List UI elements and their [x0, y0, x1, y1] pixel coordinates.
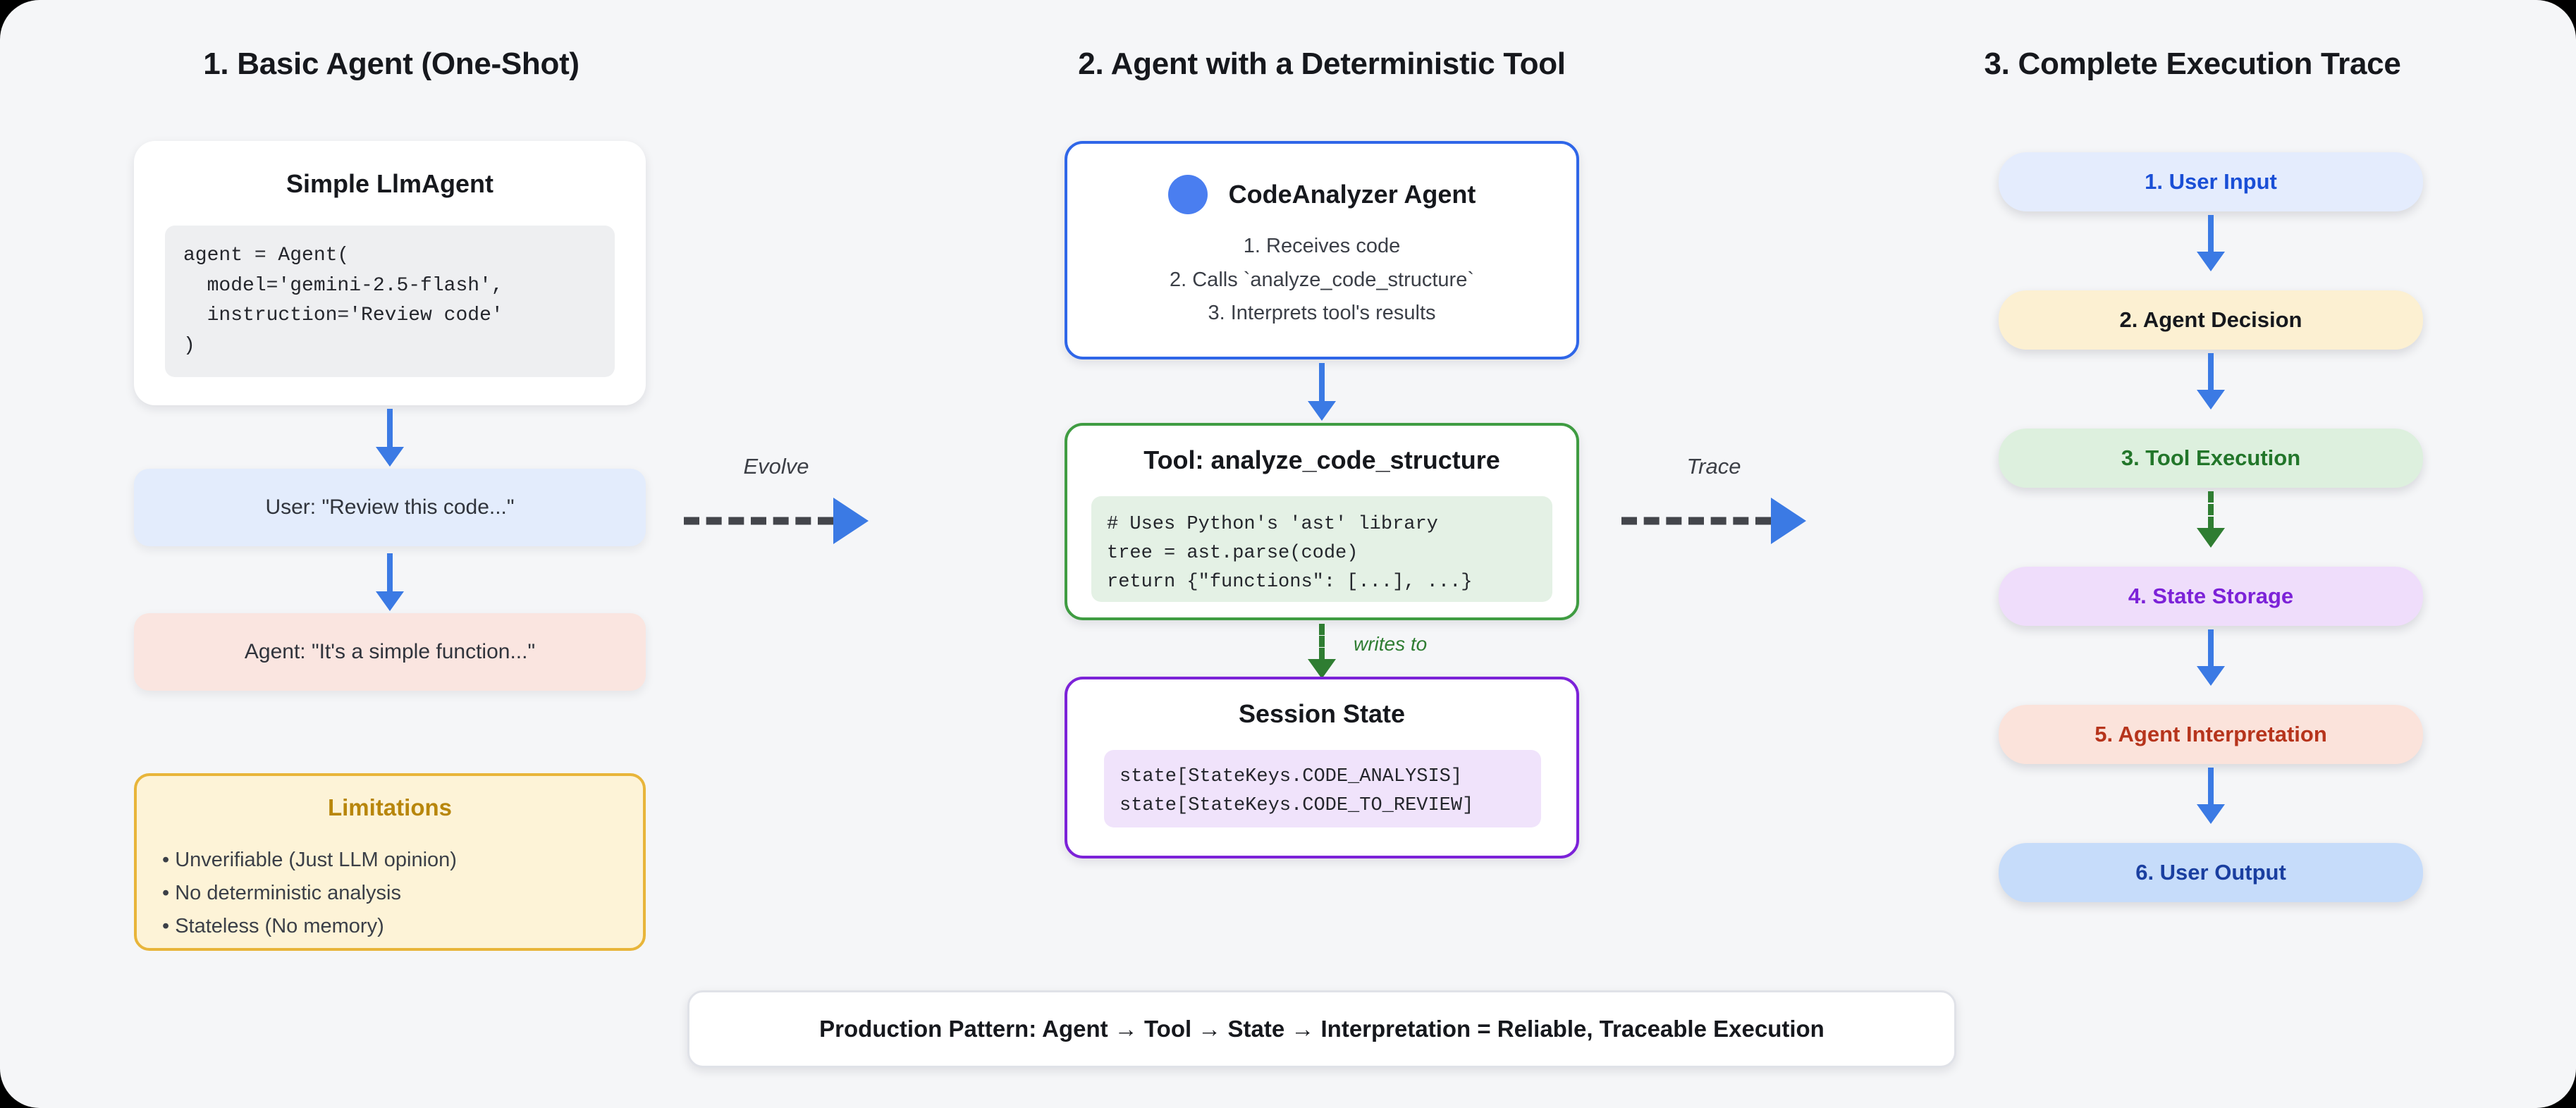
- column-title-basic-agent: 1. Basic Agent (One-Shot): [134, 47, 649, 82]
- connector-trace-label: Trace: [1621, 454, 1806, 479]
- connector-evolve: Evolve: [684, 498, 869, 544]
- trace-step-user-output: 6. User Output: [1999, 843, 2423, 902]
- agent-circle-icon: [1168, 175, 1208, 214]
- simple-llmagent-code: agent = Agent( model='gemini-2.5-flash',…: [165, 226, 615, 377]
- tool-card: Tool: analyze_code_structure # Uses Pyth…: [1065, 423, 1579, 620]
- writes-to-label: writes to: [1354, 633, 1427, 655]
- trace-step-agent-interpretation: 5. Agent Interpretation: [1999, 705, 2423, 764]
- limitation-item: • Stateless (No memory): [162, 910, 457, 943]
- limitations-list: • Unverifiable (Just LLM opinion) • No d…: [162, 844, 457, 943]
- simple-llmagent-card: Simple LlmAgent agent = Agent( model='ge…: [134, 141, 646, 405]
- agent-reply-box: Agent: "It's a simple function...": [134, 613, 646, 691]
- codeanalyzer-title: CodeAnalyzer Agent: [1229, 180, 1476, 209]
- codeanalyzer-header: CodeAnalyzer Agent: [1067, 175, 1576, 214]
- limitation-item: • Unverifiable (Just LLM opinion): [162, 844, 457, 877]
- codeanalyzer-agent-card: CodeAnalyzer Agent 1. Receives code 2. C…: [1065, 141, 1579, 359]
- tool-code: # Uses Python's 'ast' library tree = ast…: [1091, 496, 1552, 602]
- simple-llmagent-title: Simple LlmAgent: [134, 169, 646, 199]
- column-title-deterministic-tool: 2. Agent with a Deterministic Tool: [1008, 47, 1636, 82]
- column-title-execution-trace: 3. Complete Execution Trace: [1946, 47, 2439, 82]
- tool-title: Tool: analyze_code_structure: [1067, 445, 1576, 475]
- diagram-canvas: 1. Basic Agent (One-Shot) 2. Agent with …: [0, 0, 2576, 1108]
- session-state-title: Session State: [1067, 699, 1576, 729]
- limitation-item: • No deterministic analysis: [162, 877, 457, 910]
- trace-step-user-input: 1. User Input: [1999, 152, 2423, 211]
- session-state-code: state[StateKeys.CODE_ANALYSIS] state[Sta…: [1104, 750, 1541, 827]
- connector-evolve-label: Evolve: [684, 454, 869, 479]
- trace-step-state-storage: 4. State Storage: [1999, 567, 2423, 626]
- trace-step-agent-decision: 2. Agent Decision: [1999, 290, 2423, 350]
- connector-trace: Trace: [1621, 498, 1806, 544]
- codeanalyzer-step: 1. Receives code: [1067, 230, 1576, 264]
- limitations-card: Limitations • Unverifiable (Just LLM opi…: [134, 773, 646, 951]
- codeanalyzer-step: 2. Calls `analyze_code_structure`: [1067, 264, 1576, 297]
- trace-step-tool-execution: 3. Tool Execution: [1999, 429, 2423, 488]
- production-pattern-banner: Production Pattern: Agent → Tool → State…: [687, 990, 1956, 1068]
- session-state-card: Session State state[StateKeys.CODE_ANALY…: [1065, 677, 1579, 858]
- codeanalyzer-steps: 1. Receives code 2. Calls `analyze_code_…: [1067, 230, 1576, 331]
- production-pattern-text: Production Pattern: Agent → Tool → State…: [819, 1016, 1824, 1042]
- limitations-title: Limitations: [137, 794, 643, 821]
- user-message-box: User: "Review this code...": [134, 469, 646, 546]
- codeanalyzer-step: 3. Interprets tool's results: [1067, 297, 1576, 331]
